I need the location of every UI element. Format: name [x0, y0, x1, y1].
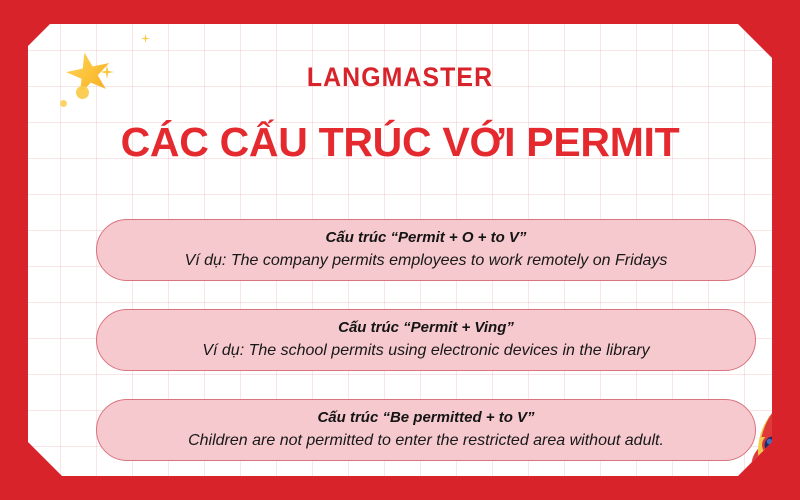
page-title: CÁC CẤU TRÚC VỚI PERMIT	[28, 119, 772, 166]
structure-card-3: Cấu trúc “Be permitted + to V” Children …	[96, 399, 756, 461]
rocket-icon	[746, 410, 800, 494]
poster-canvas: LANGMASTER CÁC CẤU TRÚC VỚI PERMIT Cấu t…	[0, 0, 800, 500]
structure-title-2: Cấu trúc “Permit + Ving”	[338, 319, 514, 338]
structure-card-1: Cấu trúc “Permit + O + to V” Ví dụ: The …	[96, 219, 756, 281]
brand-logo: LANGMASTER	[58, 62, 742, 93]
content-sheet: LANGMASTER CÁC CẤU TRÚC VỚI PERMIT Cấu t…	[28, 24, 772, 476]
structure-example-3: Children are not permitted to enter the …	[188, 430, 664, 452]
dot-icon-2	[60, 100, 67, 107]
structure-title-3: Cấu trúc “Be permitted + to V”	[317, 409, 534, 428]
structure-card-2: Cấu trúc “Permit + Ving” Ví dụ: The scho…	[96, 309, 756, 371]
structure-example-1: Ví dụ: The company permits employees to …	[185, 250, 668, 272]
structure-title-1: Cấu trúc “Permit + O + to V”	[326, 229, 527, 248]
structure-example-2: Ví dụ: The school permits using electron…	[202, 340, 649, 362]
